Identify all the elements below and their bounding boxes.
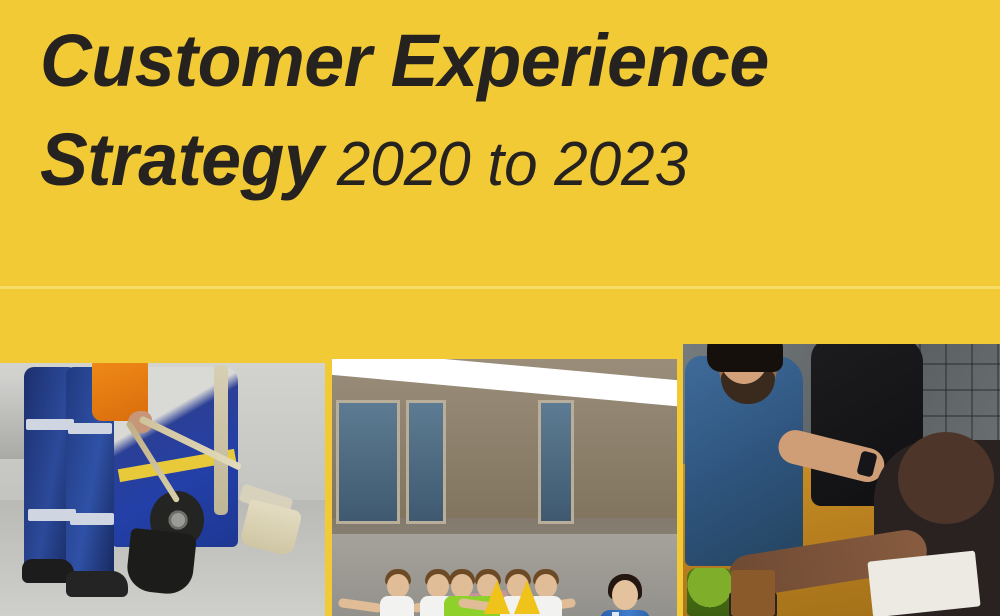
photo-panel-street-cleaning — [0, 289, 325, 616]
worker-right-boot — [66, 571, 128, 597]
panel-divider-1 — [325, 289, 332, 616]
cover-title-line-2: Strategy2020 to 2023 — [40, 115, 688, 210]
photo-panel-community-workshop — [683, 289, 1000, 616]
community-workshop-photo — [683, 344, 1000, 616]
cover-title-years: 2020 to 2023 — [323, 130, 688, 199]
photo-panel-school-playground — [332, 289, 677, 616]
woman-hair — [707, 344, 783, 372]
table-plant — [687, 568, 733, 616]
school-window — [538, 400, 574, 524]
school-window — [406, 400, 446, 524]
litter-cart-handle-rim — [214, 365, 228, 515]
pencils — [731, 570, 775, 616]
shovel-blade — [125, 528, 197, 597]
cover-photo-band — [0, 289, 1000, 616]
cover-title-strategy-word: Strategy — [40, 118, 323, 201]
title-block: Customer Experience Strategy2020 to 2023 — [0, 0, 1000, 288]
foreground-person-head — [898, 432, 994, 524]
cover-title-line-1: Customer Experience — [40, 16, 769, 106]
reflective-stripe — [28, 509, 76, 521]
playground-cone — [514, 580, 540, 614]
school-playground-photo — [332, 359, 677, 616]
playground-cone — [484, 580, 510, 614]
reflective-stripe — [68, 423, 112, 434]
table-notebook — [867, 551, 980, 616]
street-cleaning-photo — [0, 363, 325, 616]
document-cover: Customer Experience Strategy2020 to 2023 — [0, 0, 1000, 616]
reflective-stripe — [26, 419, 74, 430]
school-window — [336, 400, 400, 524]
reflective-stripe — [70, 513, 114, 525]
